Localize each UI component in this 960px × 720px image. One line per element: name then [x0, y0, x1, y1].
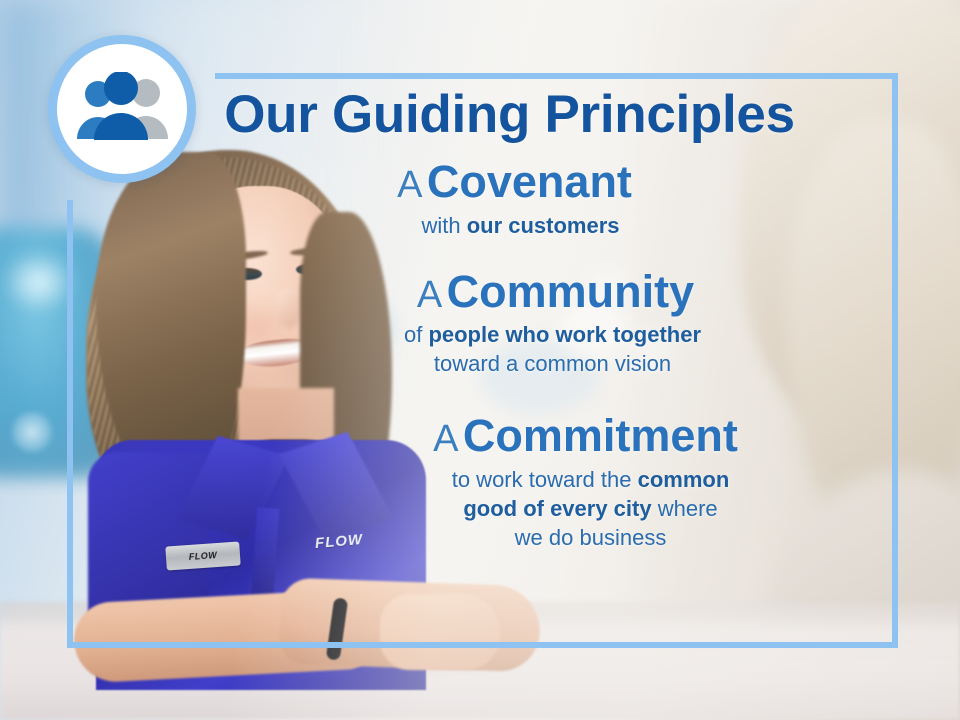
car-emblem — [12, 412, 52, 452]
subtext-tail: where — [652, 496, 718, 521]
subtext-line: good of every city where — [307, 494, 874, 523]
principle-covenant: A Covenant with our customers — [155, 158, 874, 240]
subtext-line: we do business — [307, 523, 874, 552]
subtext-line: of people who work together — [231, 320, 874, 349]
subtext-lead: with — [421, 213, 466, 238]
subtext-strong: people who work together — [428, 322, 701, 347]
subtext-line: toward a common vision — [231, 349, 874, 378]
principle-article: A — [433, 418, 458, 460]
subtext-strong: good of every city — [463, 496, 651, 521]
page-title: Our Guiding Principles — [145, 87, 874, 142]
principle-article: A — [417, 274, 442, 316]
subtext-lead: we do business — [515, 525, 667, 550]
principle-headline: A Community — [237, 268, 874, 317]
principle-subtext: to work toward the common good of every … — [307, 465, 874, 552]
subtext-strong: our customers — [467, 213, 620, 238]
principles-list: A Covenant with our customers A Communit… — [67, 158, 874, 552]
principle-article: A — [397, 164, 422, 206]
principle-subtext: of people who work together toward a com… — [231, 320, 874, 378]
principle-word: Commitment — [463, 410, 738, 461]
subtext-lead: toward a common vision — [434, 351, 671, 376]
principle-headline: A Covenant — [155, 158, 874, 207]
subtext-lead: of — [404, 322, 428, 347]
principle-word: Covenant — [427, 156, 632, 207]
guiding-principles-poster: FLOW FLOW — [0, 0, 960, 720]
principle-commitment: A Commitment to work toward the common g… — [297, 412, 874, 552]
poster-content: Our Guiding Principles A Covenant with o… — [67, 73, 898, 648]
subtext-lead: to work toward the — [452, 467, 638, 492]
subtext-strong: common — [638, 467, 730, 492]
principle-word: Community — [447, 266, 695, 317]
principle-community: A Community of people who work together … — [237, 268, 874, 379]
principle-subtext: with our customers — [167, 211, 874, 240]
subtext-line: to work toward the common — [307, 465, 874, 494]
car-highlight — [2, 250, 76, 314]
principle-headline: A Commitment — [297, 412, 874, 461]
